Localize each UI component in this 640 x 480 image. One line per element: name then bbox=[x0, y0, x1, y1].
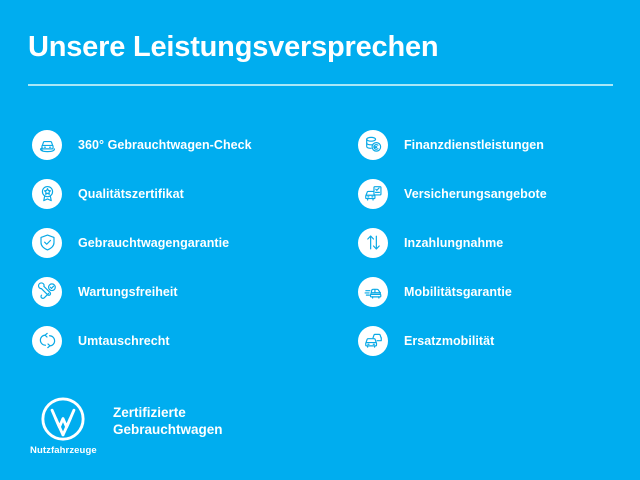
feature-label: Ersatzmobilität bbox=[404, 334, 494, 348]
feature-item-umtauschrecht[interactable]: Umtauschrecht bbox=[32, 316, 352, 365]
car-360-check-icon bbox=[32, 130, 62, 160]
brand-lockup: Nutzfahrzeuge Zertifizierte Gebrauchtwag… bbox=[30, 396, 223, 456]
car-document-icon bbox=[358, 179, 388, 209]
feature-label: Umtauschrecht bbox=[78, 334, 170, 348]
feature-item-mobilitaetsgarantie[interactable]: Mobilitätsgarantie bbox=[358, 267, 638, 316]
page-title: Unsere Leistungsversprechen bbox=[28, 30, 618, 64]
feature-item-qualitaetszertifikat[interactable]: Qualitätszertifikat bbox=[32, 169, 352, 218]
two-cars-icon bbox=[358, 326, 388, 356]
feature-label: Qualitätszertifikat bbox=[78, 187, 184, 201]
feature-label: Finanzdienstleistungen bbox=[404, 138, 544, 152]
feature-item-inzahlungnahme[interactable]: Inzahlungnahme bbox=[358, 218, 638, 267]
feature-label: Inzahlungnahme bbox=[404, 236, 503, 250]
brand-mark: Nutzfahrzeuge bbox=[30, 396, 96, 456]
quality-seal-icon bbox=[32, 179, 62, 209]
brand-sub-label: Nutzfahrzeuge bbox=[30, 445, 96, 456]
feature-item-gebrauchtwagengarantie[interactable]: Gebrauchtwagengarantie bbox=[32, 218, 352, 267]
features-left-column: 360° Gebrauchtwagen-Check Qualitätszerti… bbox=[32, 120, 352, 365]
van-motion-icon bbox=[358, 277, 388, 307]
brand-claim-line2: Gebrauchtwagen bbox=[113, 421, 223, 438]
feature-label: 360° Gebrauchtwagen-Check bbox=[78, 138, 252, 152]
header-divider bbox=[28, 84, 613, 86]
features-right-column: Finanzdienstleistungen Versicherungsange… bbox=[358, 120, 638, 365]
feature-label: Versicherungsangebote bbox=[404, 187, 547, 201]
features-columns: 360° Gebrauchtwagen-Check Qualitätszerti… bbox=[0, 120, 640, 365]
exchange-arrows-icon bbox=[32, 326, 62, 356]
feature-label: Mobilitätsgarantie bbox=[404, 285, 512, 299]
vw-logo-icon bbox=[40, 396, 86, 442]
brand-claim: Zertifizierte Gebrauchtwagen bbox=[113, 404, 223, 438]
feature-label: Gebrauchtwagengarantie bbox=[78, 236, 229, 250]
coins-euro-icon bbox=[358, 130, 388, 160]
feature-item-gebrauchtwagen-check[interactable]: 360° Gebrauchtwagen-Check bbox=[32, 120, 352, 169]
feature-item-ersatzmobilitaet[interactable]: Ersatzmobilität bbox=[358, 316, 638, 365]
feature-item-wartungsfreiheit[interactable]: Wartungsfreiheit bbox=[32, 267, 352, 316]
feature-item-versicherungsangebote[interactable]: Versicherungsangebote bbox=[358, 169, 638, 218]
brand-claim-line1: Zertifizierte bbox=[113, 404, 223, 421]
promo-panel: Unsere Leistungsversprechen 360° Gebrauc… bbox=[0, 0, 640, 480]
wrench-check-icon bbox=[32, 277, 62, 307]
header: Unsere Leistungsversprechen bbox=[28, 30, 618, 64]
arrows-up-down-icon bbox=[358, 228, 388, 258]
feature-label: Wartungsfreiheit bbox=[78, 285, 178, 299]
feature-item-finanzdienstleistungen[interactable]: Finanzdienstleistungen bbox=[358, 120, 638, 169]
shield-check-icon bbox=[32, 228, 62, 258]
